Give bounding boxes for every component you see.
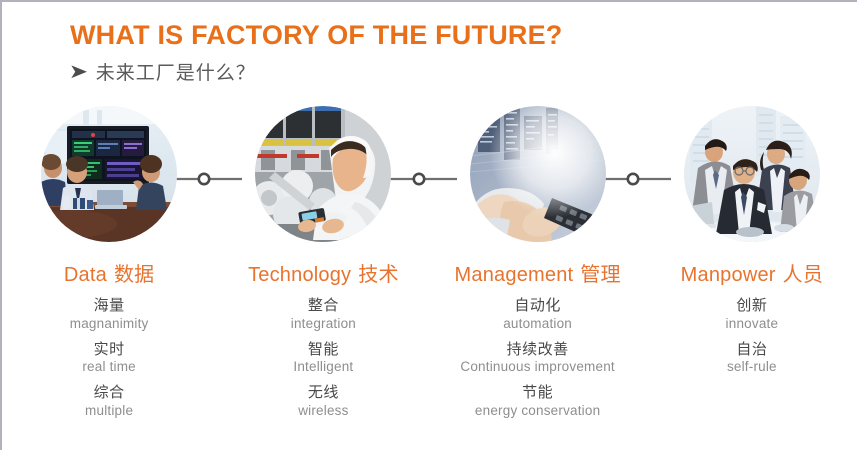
column-title-management: Management管理 xyxy=(455,258,621,287)
list-item: 自治 self-rule xyxy=(727,341,777,376)
pillar-columns: Data数据 海量 magnanimity 实时 real time 综合 mu… xyxy=(2,106,857,428)
item-cn: 持续改善 xyxy=(460,341,614,359)
hands-keyboard-data-overlay-photo xyxy=(470,106,606,242)
column-items-data: 海量 magnanimity 实时 real time 综合 multiple xyxy=(70,297,149,428)
page-title: WHAT IS FACTORY OF THE FUTURE? xyxy=(70,20,830,51)
item-cn: 无线 xyxy=(298,384,348,402)
business-team-meeting-photo xyxy=(684,106,820,242)
column-title-cn: 数据 xyxy=(114,264,154,286)
slide-canvas: WHAT IS FACTORY OF THE FUTURE? ➤ 未来工厂是什么… xyxy=(0,0,857,450)
column-items-manpower: 创新 innovate 自治 self-rule xyxy=(726,297,779,384)
item-en: Intelligent xyxy=(293,359,353,375)
column-title-manpower: Manpower人员 xyxy=(681,258,823,287)
item-cn: 自动化 xyxy=(503,297,572,315)
item-en: wireless xyxy=(298,403,348,419)
list-item: 海量 magnanimity xyxy=(70,297,149,332)
item-cn: 智能 xyxy=(293,341,353,359)
column-title-en: Manpower xyxy=(681,264,776,286)
item-en: Continuous improvement xyxy=(460,359,614,375)
column-title-technology: Technology技术 xyxy=(248,258,399,287)
item-cn: 海量 xyxy=(70,297,149,315)
pillar-column-technology: Technology技术 整合 integration 智能 Intellige… xyxy=(216,106,430,428)
pillar-column-management: Management管理 自动化 automation 持续改善 Continu… xyxy=(431,106,645,428)
pillar-column-manpower: Manpower人员 创新 innovate 自治 self-rule xyxy=(645,106,857,428)
item-cn: 综合 xyxy=(85,384,133,402)
item-cn: 整合 xyxy=(291,297,356,315)
control-room-monitor-photo xyxy=(41,106,177,242)
column-title-cn: 技术 xyxy=(358,264,398,286)
list-item: 智能 Intelligent xyxy=(293,341,353,376)
item-cn: 创新 xyxy=(726,297,779,315)
column-title-data: Data数据 xyxy=(64,258,154,287)
item-en: automation xyxy=(503,316,572,332)
item-cn: 实时 xyxy=(82,341,136,359)
list-item: 持续改善 Continuous improvement xyxy=(460,341,614,376)
item-en: multiple xyxy=(85,403,133,419)
list-item: 节能 energy conservation xyxy=(475,384,600,419)
item-cn: 节能 xyxy=(475,384,600,402)
item-en: real time xyxy=(82,359,136,375)
list-item: 实时 real time xyxy=(82,341,136,376)
list-item: 创新 innovate xyxy=(726,297,779,332)
list-item: 自动化 automation xyxy=(503,297,572,332)
factory-worker-scanner-photo xyxy=(255,106,391,242)
column-title-en: Data xyxy=(64,264,107,286)
subtitle-row: ➤ 未来工厂是什么？ xyxy=(70,58,830,85)
item-en: innovate xyxy=(726,316,779,332)
item-cn: 自治 xyxy=(727,341,777,359)
column-items-management: 自动化 automation 持续改善 Continuous improveme… xyxy=(460,297,614,428)
header: WHAT IS FACTORY OF THE FUTURE? ➤ 未来工厂是什么… xyxy=(70,20,830,85)
column-title-cn: 管理 xyxy=(580,264,620,286)
column-title-en: Management xyxy=(455,264,574,286)
item-en: energy conservation xyxy=(475,403,600,419)
item-en: self-rule xyxy=(727,359,777,375)
item-en: integration xyxy=(291,316,356,332)
column-title-cn: 人员 xyxy=(783,264,823,286)
list-item: 无线 wireless xyxy=(298,384,348,419)
list-item: 整合 integration xyxy=(291,297,356,332)
list-item: 综合 multiple xyxy=(85,384,133,419)
item-en: magnanimity xyxy=(70,316,149,332)
column-title-en: Technology xyxy=(248,264,351,286)
column-items-technology: 整合 integration 智能 Intelligent 无线 wireles… xyxy=(291,297,356,428)
subtitle: 未来工厂是什么？ xyxy=(96,58,256,85)
chevron-right-icon: ➤ xyxy=(69,62,88,82)
pillar-column-data: Data数据 海量 magnanimity 实时 real time 综合 mu… xyxy=(2,106,216,428)
